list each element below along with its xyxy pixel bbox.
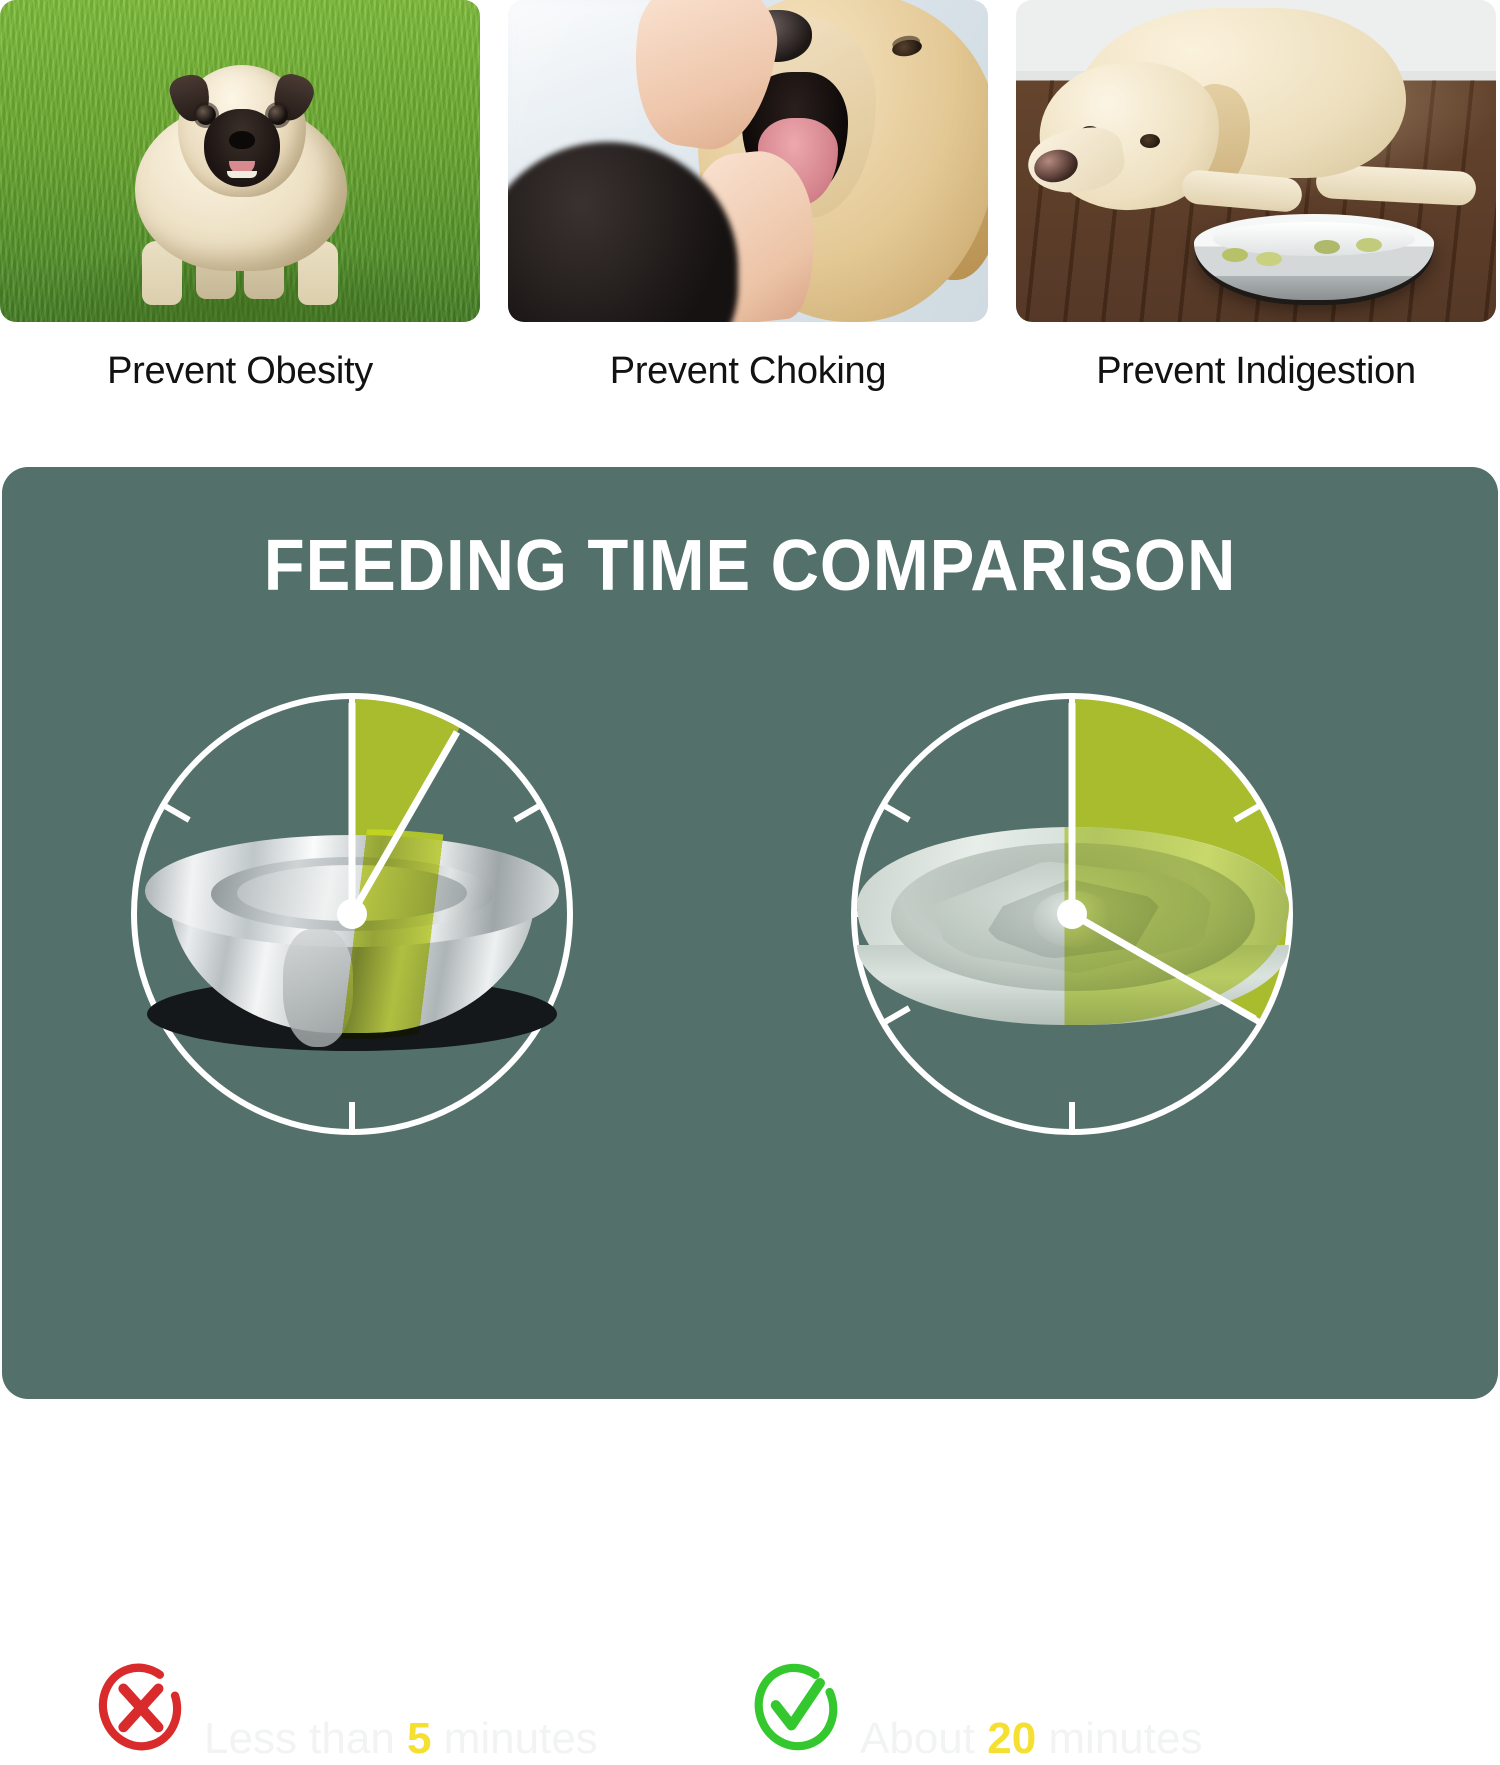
slow-feeding-bowl-clock xyxy=(837,679,1307,1149)
legend-title: Slow Feeding Bowl xyxy=(860,1655,1344,1710)
legend-sub-suffix: minutes xyxy=(432,1714,598,1763)
legend-sub-prefix: About xyxy=(860,1714,987,1763)
benefit-caption: Prevent Obesity xyxy=(0,352,480,390)
photo-dog-mouth-check xyxy=(508,0,988,322)
benefit-card-prevent-obesity: Prevent Obesity xyxy=(0,0,480,390)
legend-subtitle: About 20 minutes xyxy=(860,1714,1344,1765)
minute-hand-end xyxy=(1072,914,1255,1019)
clock-hands-svg xyxy=(837,679,1307,1149)
cross-circle-icon xyxy=(94,1661,186,1753)
legend-sub-value: 20 xyxy=(987,1714,1036,1763)
normal-bowl-clock-column xyxy=(42,679,662,1149)
legend-title: Normal Bowl xyxy=(204,1655,598,1710)
legend-sub-prefix: Less than xyxy=(204,1714,407,1763)
normal-bowl-clock xyxy=(117,679,587,1149)
panel-title: FEEDING TIME COMPARISON xyxy=(54,525,1445,607)
legend-sub-value: 5 xyxy=(407,1714,431,1763)
photo-overweight-pug xyxy=(0,0,480,322)
minute-hand-end xyxy=(352,732,457,914)
legend-sub-suffix: minutes xyxy=(1036,1714,1202,1763)
pug-illustration xyxy=(120,55,360,305)
feeding-time-comparison-panel: FEEDING TIME COMPARISON xyxy=(2,467,1498,1399)
slow-feeding-bowl-clock-column xyxy=(762,679,1382,1149)
benefits-strip: Prevent Obesity Prevent Choking xyxy=(0,0,1500,460)
benefit-card-prevent-indigestion: Prevent Indigestion xyxy=(1016,0,1496,390)
clock-hub xyxy=(1057,899,1087,929)
check-circle-icon xyxy=(750,1661,842,1753)
legend-subtitle: Less than 5 minutes xyxy=(204,1714,598,1765)
benefit-caption: Prevent Indigestion xyxy=(1016,352,1496,390)
clock-hands-svg xyxy=(117,679,587,1149)
legend-normal-bowl: Normal Bowl Less than 5 minutes xyxy=(94,1655,598,1765)
benefit-caption: Prevent Choking xyxy=(508,352,988,390)
clock-hub xyxy=(337,899,367,929)
photo-lab-with-bowl xyxy=(1016,0,1496,322)
legend-slow-feeding-bowl: Slow Feeding Bowl About 20 minutes xyxy=(750,1655,1344,1765)
benefit-card-prevent-choking: Prevent Choking xyxy=(508,0,988,390)
